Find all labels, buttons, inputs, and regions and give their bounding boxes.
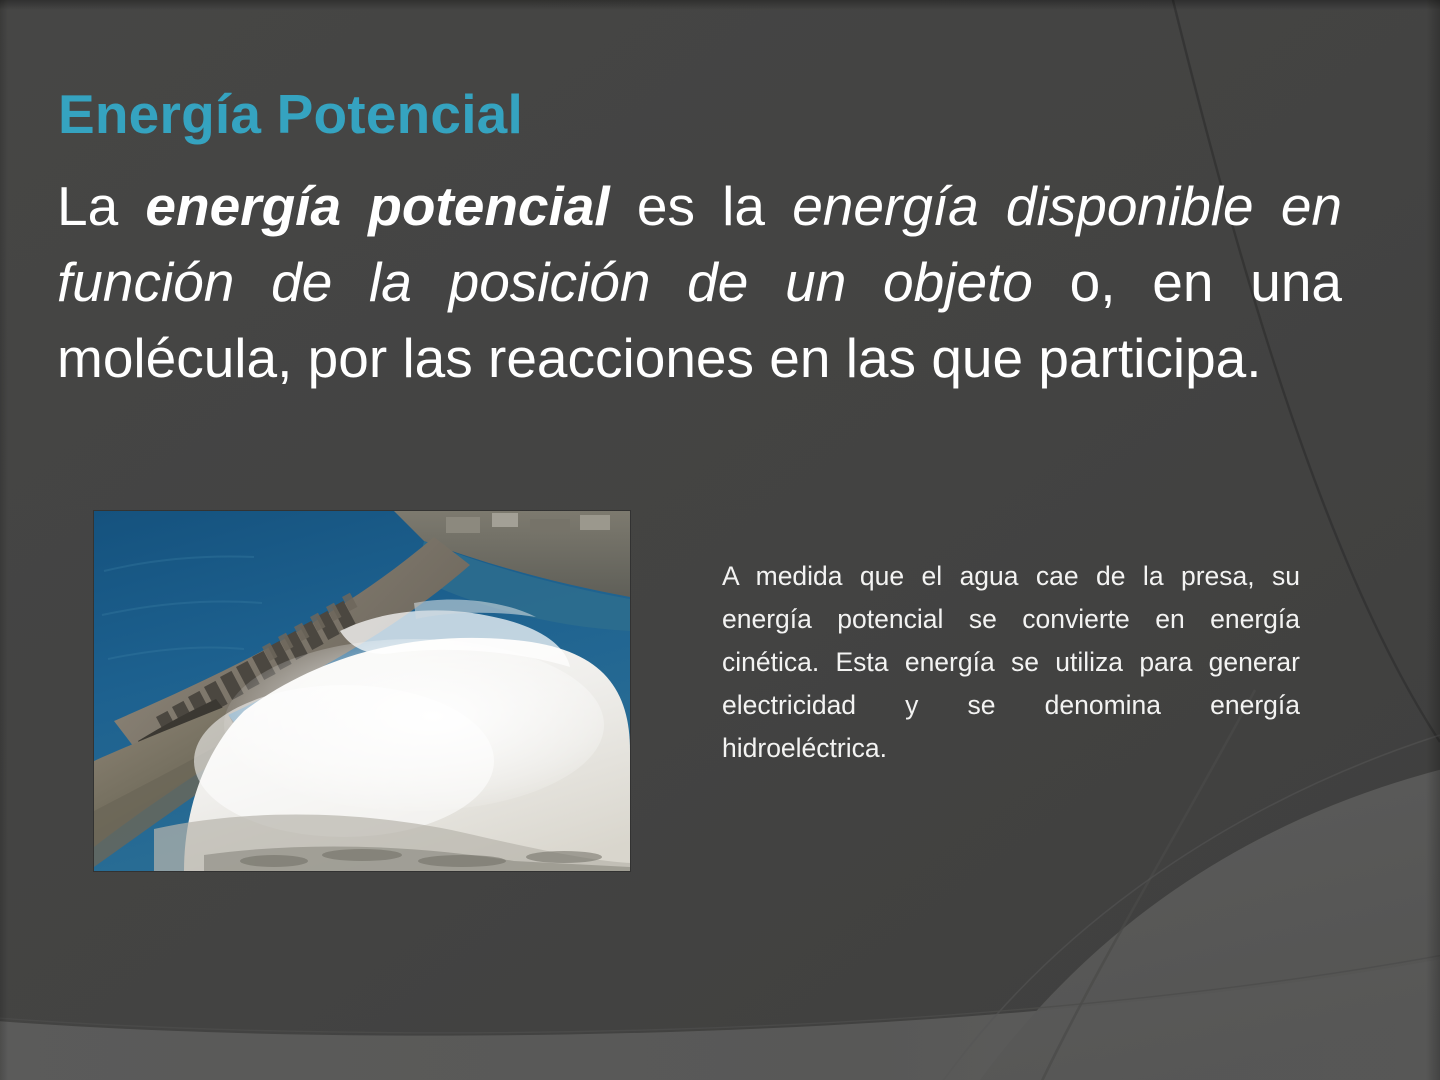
slide-title: Energía Potencial xyxy=(58,81,523,147)
figure-caption: A medida que el agua cae de la presa, su… xyxy=(722,555,1300,770)
body-segment-bold-italic: energía potencial xyxy=(145,175,609,237)
slide-canvas: Energía Potencial La energía potencial e… xyxy=(0,0,1440,1080)
dam-photo xyxy=(94,511,630,871)
body-paragraph: La energía potencial es la energía dispo… xyxy=(57,168,1342,396)
body-segment-plain-2: es la xyxy=(610,175,793,237)
body-segment-plain-1: La xyxy=(57,175,145,237)
